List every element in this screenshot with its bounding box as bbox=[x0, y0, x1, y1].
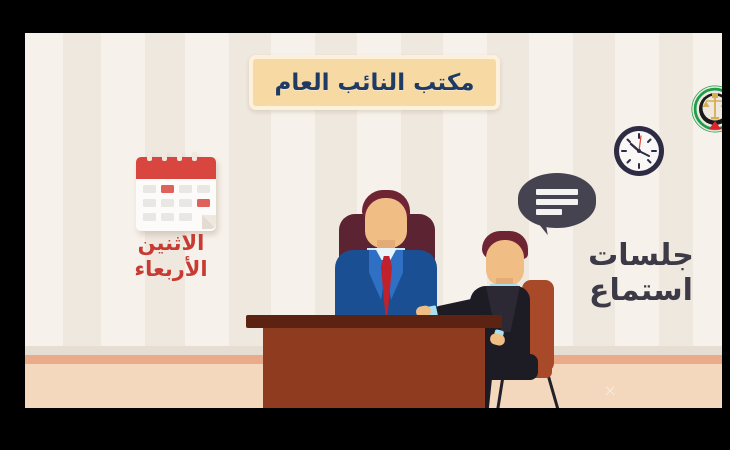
attorney-general-emblem-icon bbox=[691, 85, 722, 133]
calendar-cell bbox=[161, 213, 174, 221]
calendar-cell bbox=[179, 213, 192, 221]
calendar-cell bbox=[161, 199, 174, 207]
schedule-day-1: الاثنين bbox=[111, 231, 231, 257]
speech-bubble-line bbox=[536, 209, 562, 215]
calendar-cell-marked bbox=[197, 199, 210, 207]
speech-bubble-line bbox=[536, 189, 578, 195]
calendar-cell bbox=[179, 199, 192, 207]
calendar-cell bbox=[143, 185, 156, 193]
schedule-days: الاثنين الأربعاء bbox=[111, 231, 231, 282]
calendar-ring bbox=[192, 152, 197, 161]
wall-clock-icon bbox=[611, 123, 667, 179]
page-title: مكتب النائب العام bbox=[275, 70, 475, 96]
calendar-cell bbox=[179, 185, 192, 193]
wall-stripe bbox=[25, 33, 63, 353]
calendar-page-curl bbox=[202, 215, 216, 229]
calendar-cell bbox=[143, 213, 156, 221]
chair-leg bbox=[546, 373, 565, 408]
page-title-banner: مكتب النائب العام bbox=[249, 55, 500, 110]
calendar-cell-marked bbox=[161, 185, 174, 193]
desk-top bbox=[246, 315, 502, 328]
judge-character bbox=[325, 178, 447, 318]
calendar-icon bbox=[130, 151, 222, 235]
calendar-cell bbox=[143, 199, 156, 207]
speech-bubble-line bbox=[536, 199, 578, 205]
desk-body bbox=[263, 328, 485, 408]
screenshot-stage: × × × مكتب النائب العام bbox=[0, 0, 730, 450]
calendar-cell bbox=[197, 185, 210, 193]
schedule-day-2: الأربعاء bbox=[111, 257, 231, 283]
calendar-ring bbox=[177, 152, 182, 161]
calendar-ring bbox=[162, 152, 167, 161]
calendar-ring bbox=[147, 152, 152, 161]
illustration-scene: × × × مكتب النائب العام bbox=[25, 33, 722, 408]
